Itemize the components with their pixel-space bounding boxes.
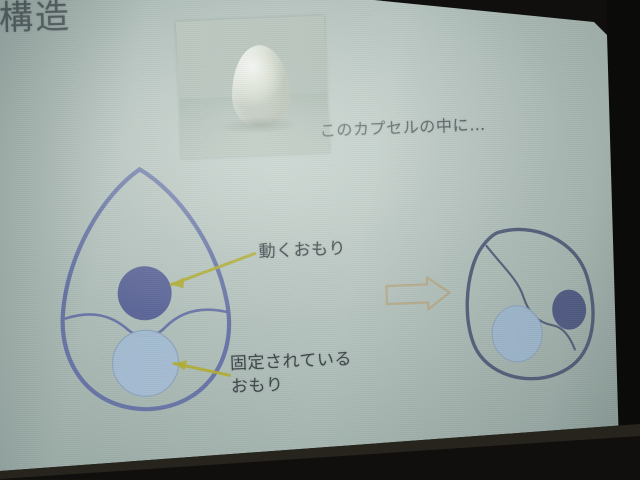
ceiling-dark-band: [374, 0, 640, 68]
room-surround: [0, 0, 640, 480]
right-wall-dark-band: [606, 0, 640, 480]
photograph-frame: 構造 このカプセルの中に…: [0, 0, 640, 480]
